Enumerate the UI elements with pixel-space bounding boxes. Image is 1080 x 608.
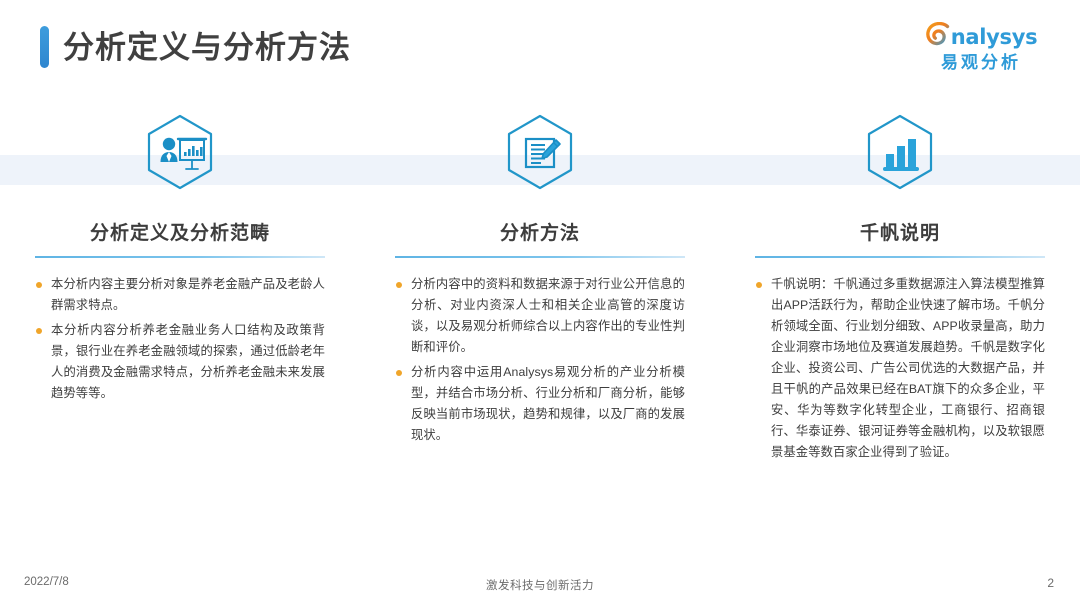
heading-divider: [755, 256, 1045, 258]
bar-chart-icon: [856, 112, 944, 200]
analysys-a-swirl-icon: [925, 22, 950, 53]
column-analysis-method: 分析方法 分析内容中的资料和数据来源于对行业公开信息的分析、对业内资深人士和相关…: [360, 112, 720, 467]
column-qianfan-description: 千帆说明 千帆说明：千帆通过多重数据源注入算法模型推算出APP活跃行为，帮助企业…: [720, 112, 1080, 467]
column-heading: 分析定义及分析范畴: [90, 218, 270, 245]
logo-wordmark-row: nalysys: [906, 24, 1056, 50]
title-accent-bar: [40, 26, 49, 68]
list-item: 分析内容中运用Analysys易观分析的产业分析模型，并结合市场分析、行业分析和…: [395, 362, 685, 446]
slide-footer: 2022/7/8 激发科技与创新活力 2: [0, 562, 1080, 608]
logo-chinese-text: 易观分析: [906, 54, 1056, 71]
bullet-list: 分析内容中的资料和数据来源于对行业公开信息的分析、对业内资深人士和相关企业高管的…: [395, 274, 685, 450]
footer-page-number: 2: [1047, 576, 1054, 590]
bullet-list: 千帆说明：千帆通过多重数据源注入算法模型推算出APP活跃行为，帮助企业快速了解市…: [755, 274, 1045, 467]
column-heading: 千帆说明: [860, 218, 940, 245]
column-heading: 分析方法: [500, 218, 580, 245]
brand-logo: nalysys 易观分析: [906, 24, 1056, 71]
footer-slogan: 激发科技与创新活力: [0, 577, 1080, 593]
list-item: 本分析内容分析养老金融业务人口结构及政策背景，银行业在养老金融领域的探索，通过低…: [35, 320, 325, 404]
heading-divider: [395, 256, 685, 258]
content-columns: 分析定义及分析范畴 本分析内容主要分析对象是养老金融产品及老龄人群需求特点。 本…: [0, 112, 1080, 467]
list-item: 本分析内容主要分析对象是养老金融产品及老龄人群需求特点。: [35, 274, 325, 316]
bullet-list: 本分析内容主要分析对象是养老金融产品及老龄人群需求特点。 本分析内容分析养老金融…: [35, 274, 325, 408]
logo-wordmark-text: nalysys: [951, 27, 1038, 48]
list-item: 分析内容中的资料和数据来源于对行业公开信息的分析、对业内资深人士和相关企业高管的…: [395, 274, 685, 358]
list-item: 千帆说明：千帆通过多重数据源注入算法模型推算出APP活跃行为，帮助企业快速了解市…: [755, 274, 1045, 463]
document-with-pencil-icon: [496, 112, 584, 200]
column-analysis-definition: 分析定义及分析范畴 本分析内容主要分析对象是养老金融产品及老龄人群需求特点。 本…: [0, 112, 360, 467]
presenter-with-chart-board-icon: [136, 112, 224, 200]
slide-header: 分析定义与分析方法 nalysys 易观分析: [0, 0, 1080, 110]
page-title: 分析定义与分析方法: [63, 32, 351, 63]
page-title-group: 分析定义与分析方法: [40, 26, 351, 68]
heading-divider: [35, 256, 325, 258]
